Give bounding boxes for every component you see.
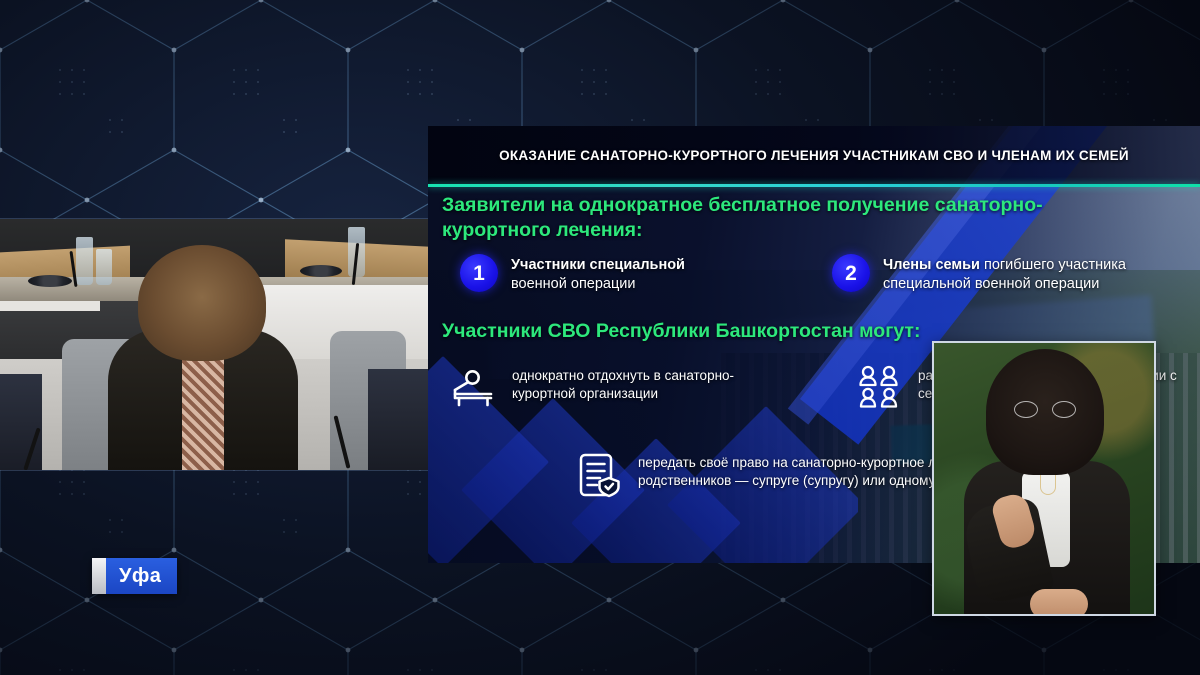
numbered-item-2-bold: Члены семьи	[883, 257, 980, 273]
glasses-lens-left	[1014, 401, 1038, 418]
interpreter-resting-hand	[1030, 589, 1088, 616]
location-badge-body: Уфа	[106, 558, 177, 594]
cam-speaker-hair	[138, 245, 266, 361]
cam-water-glass-left2	[96, 249, 112, 285]
numbered-item-1: 1 Участники специальной военной операции	[460, 254, 790, 294]
sign-language-interpreter-window	[932, 341, 1156, 616]
location-badge: Уфа	[92, 558, 177, 594]
numbered-item-1-text: Участники специальной военной операции	[511, 254, 685, 294]
section-heading-entitlements: Участники СВО Республики Башкортостан мо…	[442, 319, 1082, 344]
document-shield-icon	[576, 451, 624, 499]
live-camera-feed	[0, 219, 430, 470]
numbered-item-2: 2 Члены семьи погибшего участника специа…	[832, 254, 1172, 294]
feature-item-1-text: однократно отдохнуть в санаторно-курортн…	[512, 364, 780, 404]
panel-title: ОКАЗАНИЕ САНАТОРНО-КУРОРТНОГО ЛЕЧЕНИЯ УЧ…	[499, 148, 1129, 163]
cam-attendee-left	[0, 374, 42, 470]
number-badge-2: 2	[832, 254, 870, 292]
glasses-lens-right	[1052, 401, 1076, 418]
person-on-lounger-icon	[450, 364, 498, 412]
feature-item-1: однократно отдохнуть в санаторно-курортн…	[450, 364, 780, 412]
cam-wall-panel-left	[0, 301, 100, 311]
location-badge-label: Уфа	[119, 565, 161, 588]
family-group-icon	[856, 364, 904, 412]
cam-attendee-right	[368, 369, 430, 470]
numbered-item-1-bold: Участники специальной	[511, 257, 685, 273]
numbered-item-2-text: Члены семьи погибшего участника специаль…	[883, 254, 1172, 294]
cam-water-glass-left	[76, 237, 93, 285]
numbered-item-1-rest: военной операции	[511, 276, 636, 292]
interpreter-glasses	[1014, 401, 1076, 418]
panel-header-bar: ОКАЗАНИЕ САНАТОРНО-КУРОРТНОГО ЛЕЧЕНИЯ УЧ…	[428, 126, 1200, 184]
section-heading-applicants: Заявители на однократное бесплатное полу…	[442, 193, 1082, 242]
cam-desk-plate-left	[28, 275, 72, 287]
location-badge-accent	[92, 558, 106, 594]
number-badge-1: 1	[460, 254, 498, 292]
cam-desk-plate-right	[300, 265, 342, 277]
